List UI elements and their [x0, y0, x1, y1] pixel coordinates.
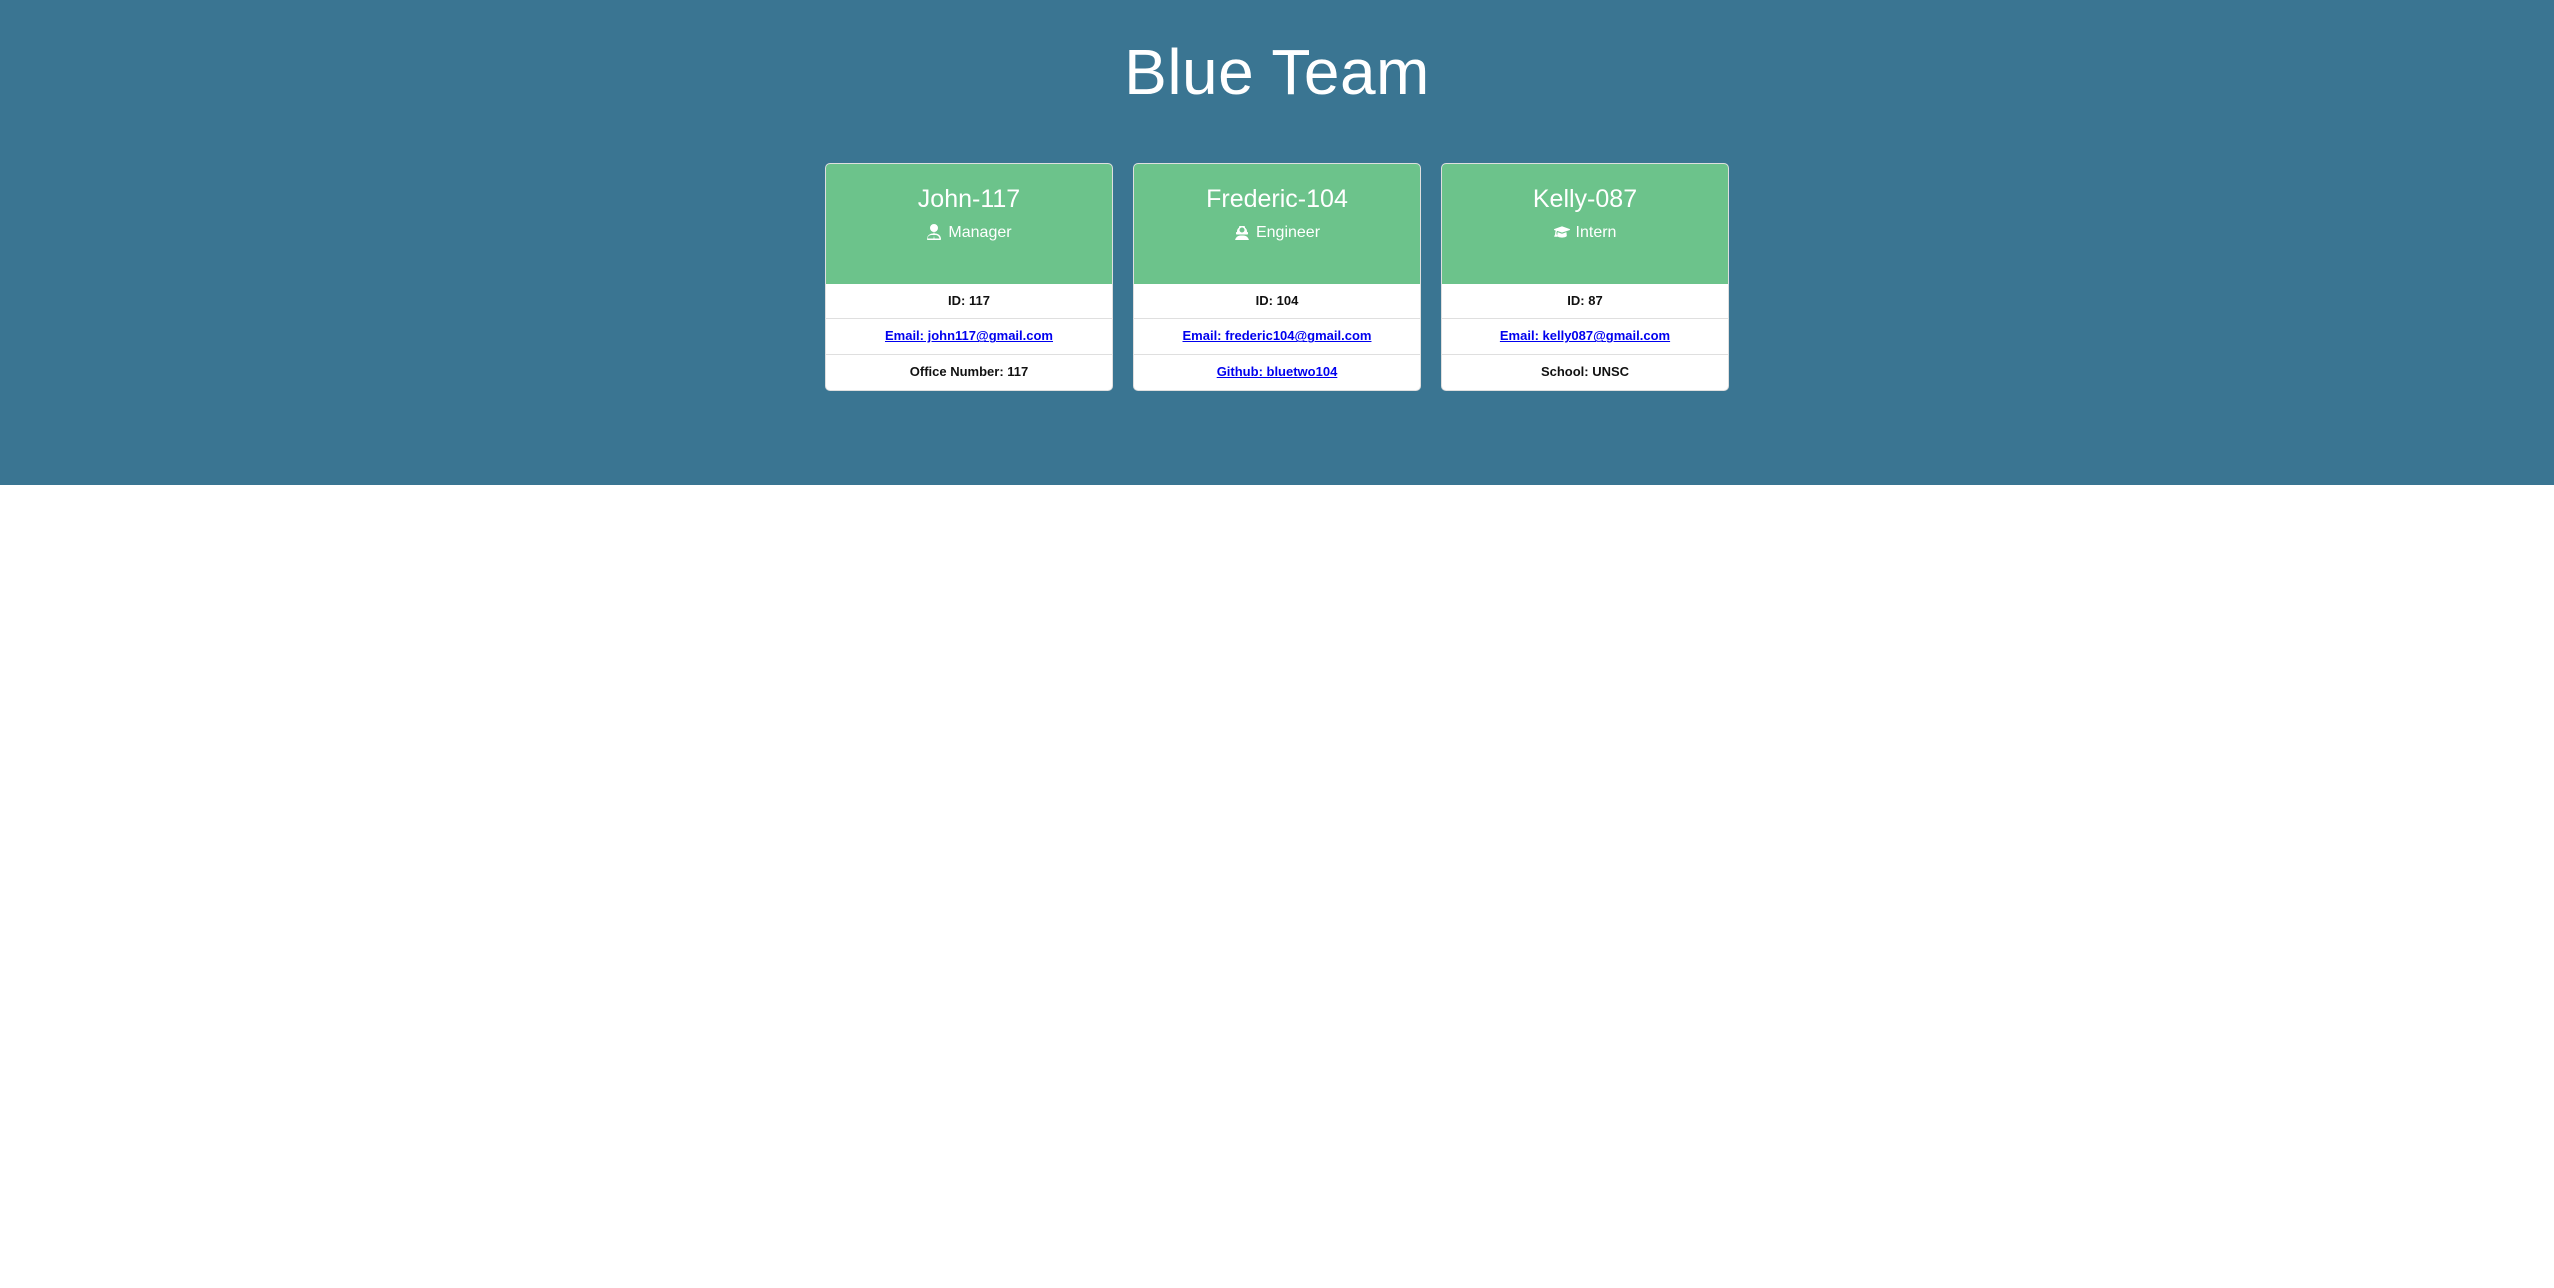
employee-id: ID: 87 — [1442, 284, 1728, 319]
card-header: John-117 Manager — [826, 164, 1112, 284]
employee-extra-info: School: UNSC — [1442, 354, 1728, 390]
user-tie-icon — [926, 224, 942, 240]
employee-name: Kelly-087 — [1454, 184, 1716, 214]
employee-email[interactable]: Email: john117@gmail.com — [826, 318, 1112, 354]
employee-id: ID: 104 — [1134, 284, 1420, 319]
employee-extra-info: Office Number: 117 — [826, 354, 1112, 390]
employee-email[interactable]: Email: kelly087@gmail.com — [1442, 318, 1728, 354]
employee-name: Frederic-104 — [1146, 184, 1408, 214]
card-header: Kelly-087 Intern — [1442, 164, 1728, 284]
employee-role-label: Intern — [1576, 223, 1617, 242]
employee-email-link[interactable]: Email: john117@gmail.com — [885, 328, 1053, 343]
employee-card[interactable]: Frederic-104 Engineer ID: 104 Email: fre… — [1133, 163, 1421, 392]
employee-role: Intern — [1454, 223, 1716, 242]
card-detail-list: ID: 117 Email: john117@gmail.com Office … — [826, 284, 1112, 391]
user-graduate-icon — [1554, 224, 1570, 240]
employee-id: ID: 117 — [826, 284, 1112, 319]
employee-role-label: Engineer — [1256, 223, 1320, 242]
employee-extra-info[interactable]: Github: bluetwo104 — [1134, 354, 1420, 390]
employee-role: Manager — [838, 223, 1100, 242]
card-detail-list: ID: 104 Email: frederic104@gmail.com Git… — [1134, 284, 1420, 391]
card-detail-list: ID: 87 Email: kelly087@gmail.com School:… — [1442, 284, 1728, 391]
hero-banner: Blue Team John-117 Manager ID: 117 Ema — [0, 0, 2554, 485]
employee-card-row: John-117 Manager ID: 117 Email: john117@… — [0, 163, 2554, 392]
employee-email-link[interactable]: Email: frederic104@gmail.com — [1183, 328, 1372, 343]
employee-email[interactable]: Email: frederic104@gmail.com — [1134, 318, 1420, 354]
page-title: Blue Team — [0, 36, 2554, 110]
employee-role: Engineer — [1146, 223, 1408, 242]
employee-card[interactable]: John-117 Manager ID: 117 Email: john117@… — [825, 163, 1113, 392]
employee-email-link[interactable]: Email: kelly087@gmail.com — [1500, 328, 1670, 343]
employee-name: John-117 — [838, 184, 1100, 214]
employee-github-link[interactable]: Github: bluetwo104 — [1217, 364, 1338, 379]
card-header: Frederic-104 Engineer — [1134, 164, 1420, 284]
user-hard-hat-icon — [1234, 224, 1250, 240]
employee-card[interactable]: Kelly-087 Intern ID: 87 Email: kelly087@… — [1441, 163, 1729, 392]
employee-role-label: Manager — [948, 223, 1011, 242]
